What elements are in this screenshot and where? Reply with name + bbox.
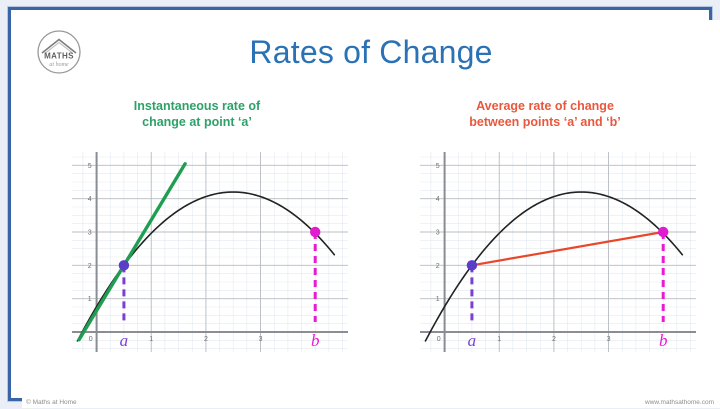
x-tick-label: 2 [552, 336, 556, 343]
caption-line-2: between points ‘a’ and ‘b’ [380, 114, 710, 130]
x-tick-label: 1 [149, 336, 153, 343]
y-tick-label: 1 [88, 296, 92, 303]
screenshot-root: MATHS at home Rates of Change Instantane… [0, 0, 720, 409]
copyright-text: © Maths at Home [26, 399, 77, 406]
page-title: Rates of Change [22, 34, 720, 71]
point-b [658, 227, 668, 237]
x-tick-label: 2 [204, 336, 208, 343]
website-text: www.mathsathome.com [645, 399, 714, 406]
y-tick-label: 4 [436, 196, 440, 203]
graph-average: 123450123ab [380, 146, 710, 396]
x-tick-label: 0 [437, 336, 441, 343]
y-tick-label: 2 [436, 263, 440, 270]
caption-instantaneous: Instantaneous rate of change at point ‘a… [32, 98, 362, 130]
chart-line: 123450123ab [420, 152, 696, 352]
x-tick-label: 0 [89, 336, 93, 343]
caption-line-1: Average rate of change [380, 98, 710, 114]
y-tick-label: 4 [88, 196, 92, 203]
point-b [310, 227, 320, 237]
panel-average-rate: Average rate of change between points ‘a… [380, 98, 710, 398]
axis-point-label: b [659, 331, 668, 350]
y-tick-label: 3 [436, 230, 440, 237]
caption-line-2: change at point ‘a’ [32, 114, 362, 130]
caption-line-1: Instantaneous rate of [32, 98, 362, 114]
point-a [119, 260, 129, 270]
x-tick-label: 3 [607, 336, 611, 343]
y-tick-label: 1 [436, 296, 440, 303]
x-tick-label: 1 [497, 336, 501, 343]
chart-line: 123450123ab [72, 152, 348, 352]
x-tick-label: 3 [259, 336, 263, 343]
y-tick-label: 2 [88, 263, 92, 270]
axis-point-label: a [120, 331, 129, 350]
minor-grid [72, 152, 348, 352]
slide: MATHS at home Rates of Change Instantane… [22, 20, 720, 408]
graph-instantaneous: 123450123ab [32, 146, 362, 396]
axis-point-label: b [311, 331, 320, 350]
minor-grid [420, 152, 696, 352]
point-a [467, 260, 477, 270]
caption-average: Average rate of change between points ‘a… [380, 98, 710, 130]
y-tick-label: 5 [88, 163, 92, 170]
panel-instantaneous-rate: Instantaneous rate of change at point ‘a… [32, 98, 362, 398]
y-tick-label: 3 [88, 230, 92, 237]
y-tick-label: 5 [436, 163, 440, 170]
slide-border: MATHS at home Rates of Change Instantane… [8, 7, 712, 401]
axis-point-label: a [468, 331, 477, 350]
